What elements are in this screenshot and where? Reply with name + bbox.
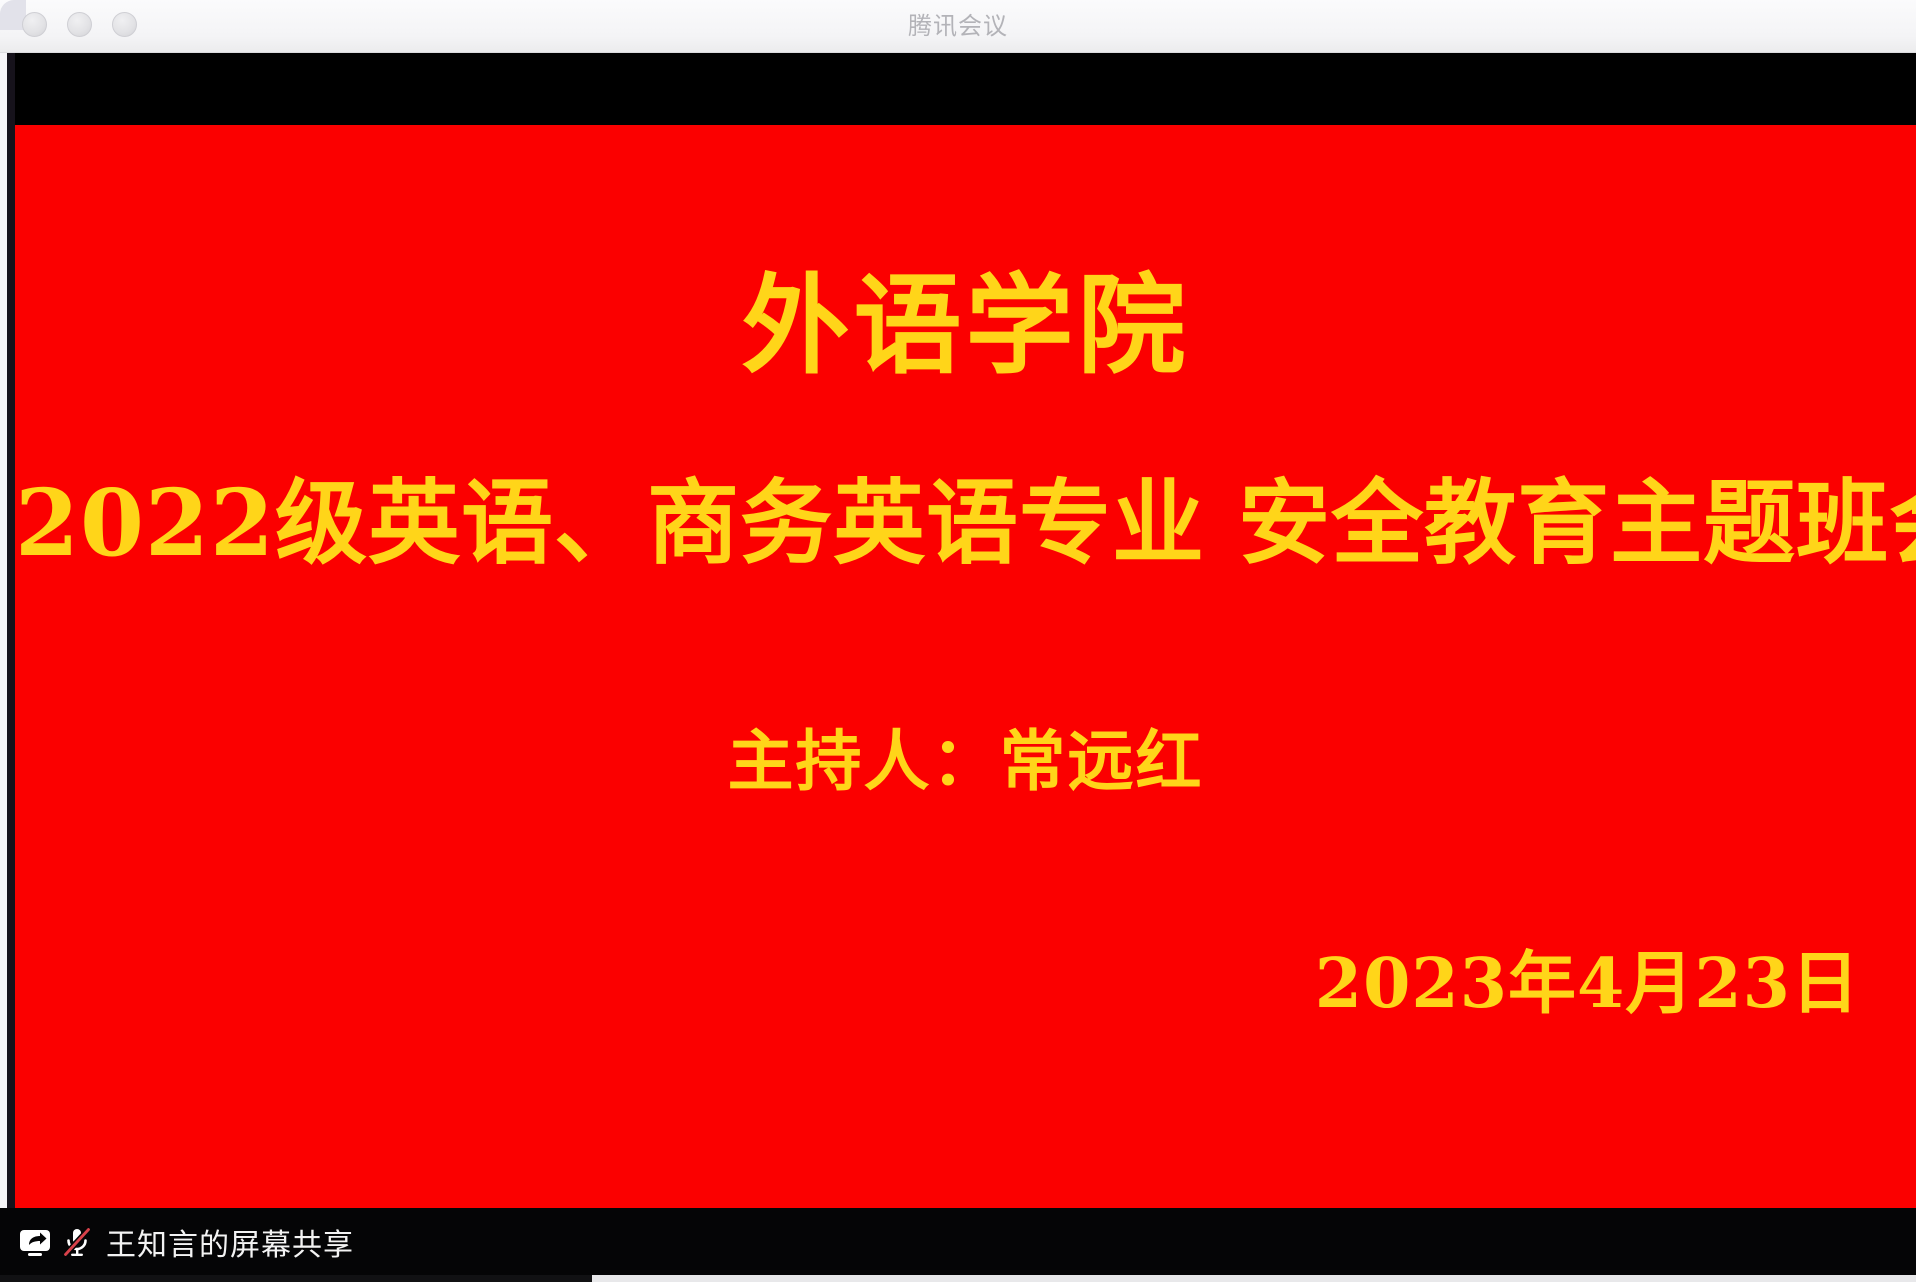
letterbox-edge-left-light: [0, 53, 7, 1208]
tencent-meeting-window: 腾讯会议 外语学院 2022级英语、商务英语专业 安全教育主题班会 主持人：常远…: [0, 0, 1916, 1282]
shared-screen-content: 外语学院 2022级英语、商务英语专业 安全教育主题班会 主持人：常远红 202…: [0, 53, 1916, 1208]
slide-date: 2023年4月23日: [1315, 947, 1860, 1022]
desktop-bottom-sliver-light: [592, 1275, 1916, 1282]
slide-host-line: 主持人：常远红: [15, 725, 1916, 798]
window-titlebar[interactable]: 腾讯会议: [0, 0, 1916, 53]
presentation-slide: 外语学院 2022级英语、商务英语专业 安全教育主题班会 主持人：常远红 202…: [15, 125, 1916, 1208]
screen-share-label: 王知言的屏幕共享: [106, 1220, 354, 1264]
slide-title: 外语学院: [15, 267, 1916, 386]
letterbox-edge-left-dark: [7, 53, 15, 1208]
screen-share-icon: [18, 1225, 52, 1259]
mic-muted-icon: [60, 1225, 94, 1259]
slide-subtitle: 2022级英语、商务英语专业 安全教育主题班会: [15, 473, 1916, 574]
screen-share-status-bar[interactable]: 王知言的屏幕共享: [0, 1208, 1916, 1275]
window-title: 腾讯会议: [0, 0, 1916, 53]
